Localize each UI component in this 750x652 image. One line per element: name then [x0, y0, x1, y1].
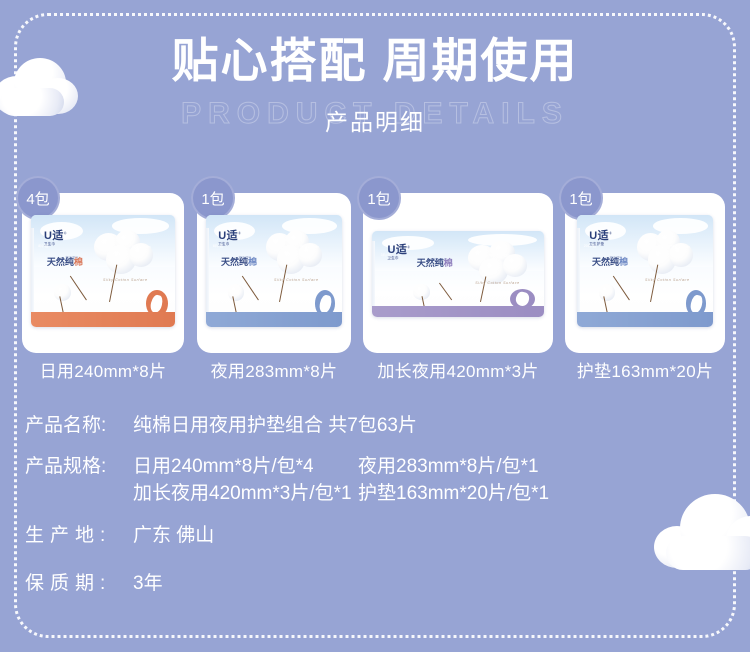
spec-row-product-name: 产品名称: 纯棉日用夜用护垫组合 共7包63片	[25, 412, 725, 440]
pack-count-badge: 1包	[357, 176, 401, 220]
package-count-text: 3片/包	[381, 253, 391, 258]
spec-size-line2-col1: 加长夜用420mm*3片/包*1	[133, 480, 358, 508]
spec-row-origin: 生产地: 广东 佛山	[25, 522, 725, 550]
spec-label-origin: 生产地:	[25, 522, 133, 550]
product-caption-panty-liner: 护垫163mm*20片	[565, 357, 725, 382]
spec-value-origin: 广东 佛山	[133, 522, 214, 550]
spec-label-shelf-life: 保质期:	[25, 570, 133, 598]
package-size-text: 夜用 283mm	[300, 244, 319, 249]
package-count-text: 8片/包	[213, 244, 223, 249]
product-card-panty-liner[interactable]: 1包 U适® 卫生护垫 舒适透气 天然纯棉 Silky Cotton Surfa…	[565, 193, 725, 353]
package-latin-text: Silky Cotton Surface	[103, 278, 148, 282]
package-size-text: 加长夜用 420mm	[489, 253, 515, 258]
spec-value-product-name: 纯棉日用夜用护垫组合 共7包63片	[133, 412, 417, 440]
product-card-row: 4包 U适® 卫生巾 舒适透气 天然纯棉 Silky Cotton Surfac…	[22, 185, 728, 377]
spec-size-line2-col2: 护垫163mm*20片/包*1	[358, 483, 549, 504]
pack-count-badge: 1包	[191, 176, 235, 220]
page-title: 贴心搭配 周期使用	[0, 34, 750, 89]
pack-count-badge: 4包	[16, 176, 60, 220]
subtitle-chinese: 产品明细	[0, 103, 750, 137]
product-detail-page: 贴心搭配 周期使用 PRODUCT DETAILS 产品明细 4包 U适® 卫生…	[0, 0, 750, 652]
spec-label-product-name: 产品名称:	[25, 412, 133, 440]
product-card-extra-long-night[interactable]: 1包 U适® 卫生巾 舒适透气 天然纯棉 Silky Cotton Surfac…	[363, 193, 553, 353]
page-header: 贴心搭配 周期使用 PRODUCT DETAILS 产品明细	[0, 34, 750, 141]
package-main-text: 天然纯棉	[221, 258, 257, 267]
package-count-text: 8片/包	[38, 244, 48, 249]
product-caption-night: 夜用283mm*8片	[197, 357, 351, 382]
spec-size-line1-col2: 夜用283mm*8片/包*1	[358, 456, 539, 477]
package-count-text: 20片/包	[584, 244, 596, 249]
spec-size-line1-col1: 日用240mm*8片/包*4	[133, 453, 358, 481]
product-caption-daytime: 日用240mm*8片	[22, 357, 184, 382]
package-size-text: 纯棉亲肤护垫 163mm	[657, 244, 690, 249]
pack-count-badge: 1包	[559, 176, 603, 220]
spec-row-product-size: 产品规格: 日用240mm*8片/包*4夜用283mm*8片/包*1 加长夜用4…	[25, 453, 725, 508]
specification-block: 产品名称: 纯棉日用夜用护垫组合 共7包63片 产品规格: 日用240mm*8片…	[25, 412, 725, 598]
subtitle-group: PRODUCT DETAILS 产品明细	[0, 95, 750, 141]
package-main-text: 天然纯棉	[592, 258, 628, 267]
package-image-panty-liner: U适® 卫生护垫 舒适透气 天然纯棉 Silky Cotton Surface …	[577, 215, 713, 327]
package-image-daytime: U适® 卫生巾 舒适透气 天然纯棉 Silky Cotton Surface 8…	[31, 215, 175, 327]
spec-value-product-size: 日用240mm*8片/包*4夜用283mm*8片/包*1 加长夜用420mm*3…	[133, 453, 549, 508]
product-card-night[interactable]: 1包 U适® 卫生巾 舒适透气 天然纯棉 Silky Cotton Surfac…	[197, 193, 351, 353]
package-image-extra-long: U适® 卫生巾 舒适透气 天然纯棉 Silky Cotton Surface 3…	[372, 231, 544, 317]
package-size-text: 日用 240mm	[132, 244, 151, 249]
package-main-text: 天然纯棉	[47, 258, 83, 267]
spec-row-shelf-life: 保质期: 3年	[25, 570, 725, 598]
spec-label-product-size: 产品规格:	[25, 453, 133, 481]
package-latin-text: Silky Cotton Surface	[475, 281, 520, 285]
package-image-night: U适® 卫生巾 舒适透气 天然纯棉 Silky Cotton Surface 8…	[206, 215, 342, 327]
product-card-daytime[interactable]: 4包 U适® 卫生巾 舒适透气 天然纯棉 Silky Cotton Surfac…	[22, 193, 184, 353]
package-main-text: 天然纯棉	[417, 259, 453, 268]
product-caption-extra-long-night: 加长夜用420mm*3片	[363, 357, 553, 382]
package-latin-text: Silky Cotton Surface	[645, 278, 690, 282]
spec-value-shelf-life: 3年	[133, 570, 163, 598]
package-latin-text: Silky Cotton Surface	[274, 278, 319, 282]
